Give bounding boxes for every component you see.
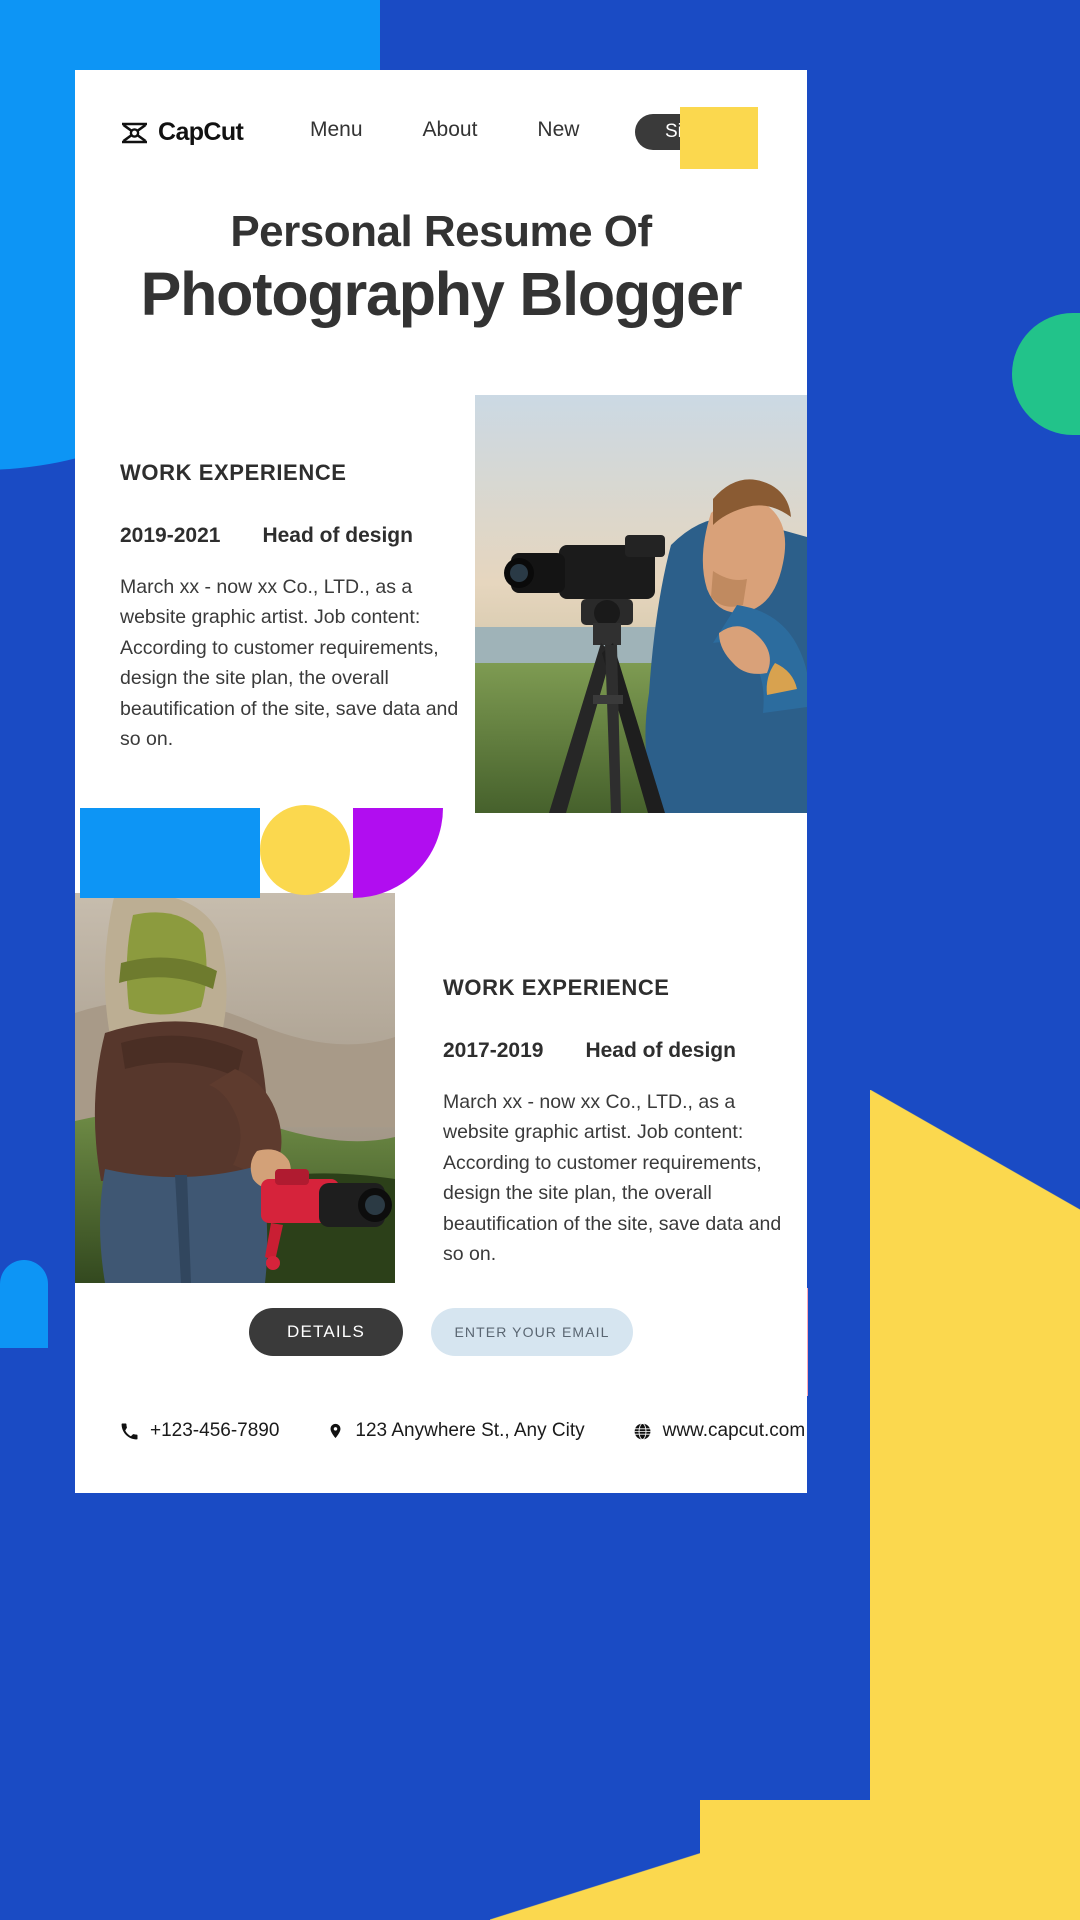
decor-yellow-square [680,107,758,169]
details-button[interactable]: DETAILS [249,1308,403,1356]
map-pin-icon [327,1421,344,1441]
page-title: Personal Resume Of Photography Blogger [75,208,807,329]
decor-band-blue-rect [80,808,260,898]
brand-logo[interactable]: CapCut [120,118,243,147]
decor-green-half-disc [1012,313,1080,435]
experience-body: March xx - now xx Co., LTD., as a websit… [443,1087,788,1269]
title-line-1: Personal Resume Of [75,208,807,256]
nav-item-new[interactable]: New [537,118,579,142]
experience-role-row: 2019-2021 Head of design [120,524,465,548]
experience-role-row: 2017-2019 Head of design [443,1039,788,1063]
decor-band-purple-shape [353,808,443,898]
cta-row: DETAILS [75,1308,807,1356]
decor-bottom-yellow-fill [700,1800,880,1920]
experience-role: Head of design [262,524,413,548]
title-line-2: Photography Blogger [75,260,807,328]
work-experience-2: WORK EXPERIENCE 2017-2019 Head of design… [443,975,788,1269]
experience-role: Head of design [585,1039,736,1063]
footer-address-text: 123 Anywhere St., Any City [355,1420,584,1442]
work-experience-1: WORK EXPERIENCE 2019-2021 Head of design… [120,460,465,754]
experience-heading: WORK EXPERIENCE [443,975,788,1001]
experience-years: 2017-2019 [443,1039,543,1063]
decor-left-blue-strip [0,0,60,460]
nav-item-about[interactable]: About [423,118,478,142]
resume-card: CapCut Menu About New Sign in Personal R… [75,70,807,1493]
footer-contact: +123-456-7890 123 Anywhere St., Any City… [120,1420,805,1442]
decor-bottom-left-blue-arc [0,1260,48,1348]
main-nav: Menu About New [310,118,579,142]
footer-website[interactable]: www.capcut.com [633,1420,806,1442]
footer-website-text: www.capcut.com [663,1420,806,1442]
footer-phone-text: +123-456-7890 [150,1420,279,1442]
globe-icon [633,1422,652,1441]
nav-item-menu[interactable]: Menu [310,118,363,142]
experience-heading: WORK EXPERIENCE [120,460,465,486]
phone-icon [120,1422,139,1441]
hiker-illustration [75,893,395,1283]
photo-hiker-camera [75,893,395,1283]
experience-years: 2019-2021 [120,524,220,548]
decor-yellow-diagonal-cut [870,1090,1080,1210]
decor-band-yellow-circle [260,805,350,895]
brand-name: CapCut [158,118,243,147]
footer-address[interactable]: 123 Anywhere St., Any City [327,1420,584,1442]
decor-bottom-right-yellow-panel [870,1130,1080,1920]
footer-phone[interactable]: +123-456-7890 [120,1420,279,1442]
capcut-hourglass-icon [120,121,149,145]
photo-photographer-tripod [475,395,807,813]
email-input[interactable] [431,1308,633,1356]
photographer-illustration [475,395,807,813]
experience-body: March xx - now xx Co., LTD., as a websit… [120,572,465,754]
